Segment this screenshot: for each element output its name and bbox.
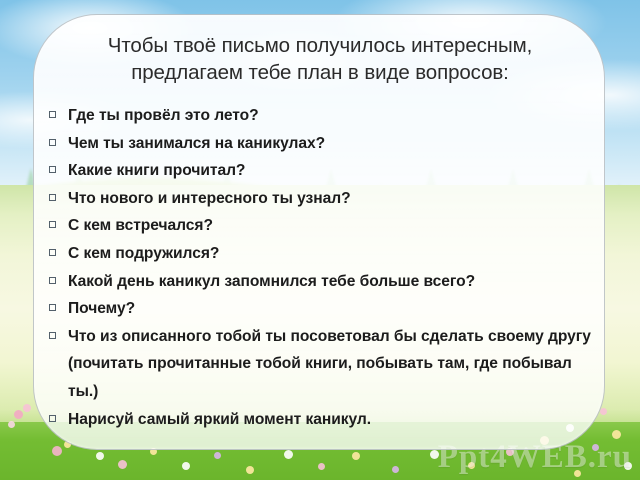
list-item: Что нового и интересного ты узнал? (43, 185, 599, 213)
content-card: Чтобы твоё письмо получилось интересным,… (33, 14, 605, 450)
square-bullet-icon (49, 139, 56, 146)
list-item-label: С кем подружился? (68, 245, 219, 262)
list-item-label: Почему? (68, 300, 135, 317)
square-bullet-icon (49, 221, 56, 228)
question-list: Где ты провёл это лето? Чем ты занимался… (43, 102, 599, 433)
square-bullet-icon (49, 332, 56, 339)
slide-title-line-1: Чтобы твоё письмо получилось интересным, (52, 32, 588, 59)
square-bullet-icon (49, 166, 56, 173)
list-item: Какие книги прочитал? (43, 157, 599, 185)
list-item-label: Что нового и интересного ты узнал? (68, 190, 351, 207)
list-item-label: Что из описанного тобой ты посоветовал б… (68, 328, 591, 400)
square-bullet-icon (49, 304, 56, 311)
square-bullet-icon (49, 415, 56, 422)
slide-title: Чтобы твоё письмо получилось интересным,… (52, 32, 588, 86)
list-item-label: Нарисуй самый яркий момент каникул. (68, 411, 371, 428)
list-item: Где ты провёл это лето? (43, 102, 599, 130)
square-bullet-icon (49, 111, 56, 118)
list-item: Нарисуй самый яркий момент каникул. (43, 406, 599, 434)
list-item: Чем ты занимался на каникулах? (43, 130, 599, 158)
list-item-label: С кем встречался? (68, 217, 213, 234)
list-item: Почему? (43, 295, 599, 323)
list-item-label: Чем ты занимался на каникулах? (68, 135, 325, 152)
slide-canvas: Ppt4WEB.ru Чтобы твоё письмо получилось … (0, 0, 640, 480)
list-item-label: Где ты провёл это лето? (68, 107, 259, 124)
list-item: С кем подружился? (43, 240, 599, 268)
list-item-label: Какой день каникул запомнился тебе больш… (68, 273, 475, 290)
list-item: Какой день каникул запомнился тебе больш… (43, 268, 599, 296)
list-item: Что из описанного тобой ты посоветовал б… (43, 323, 599, 406)
list-item: С кем встречался? (43, 212, 599, 240)
square-bullet-icon (49, 277, 56, 284)
square-bullet-icon (49, 194, 56, 201)
list-item-label: Какие книги прочитал? (68, 162, 245, 179)
slide-title-line-2: предлагаем тебе план в виде вопросов: (52, 59, 588, 86)
square-bullet-icon (49, 249, 56, 256)
